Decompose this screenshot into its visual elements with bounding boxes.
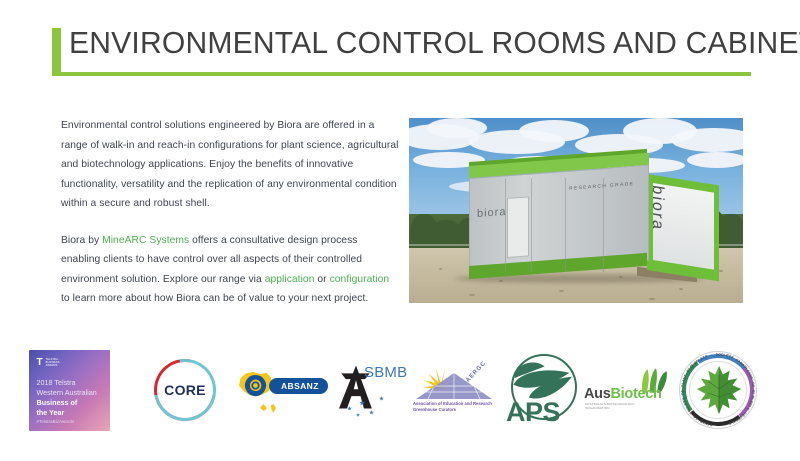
p2-mid-2: or: [314, 274, 329, 285]
telstra-mark-line-3: AWARDS: [46, 364, 60, 367]
p2-tail: to learn more about how Biora can be of …: [61, 293, 368, 304]
ground-speck: [649, 298, 655, 300]
link-configuration[interactable]: configuration: [330, 274, 390, 285]
partner-logo-strip: T TELSTRA BUSINESS AWARDS 2018 Telstra W…: [0, 340, 800, 450]
ground-speck: [469, 294, 475, 296]
container-rib: [565, 178, 566, 272]
biohazard-icon: [243, 373, 268, 398]
aps-wordmark: APS: [506, 397, 560, 428]
container-door: [507, 196, 529, 258]
cloud-shape: [519, 120, 589, 142]
telstra-line-4: the Year: [37, 408, 103, 418]
tree-shape: [717, 214, 743, 252]
header-accent-bar: [52, 28, 61, 74]
ground-speck: [679, 288, 683, 290]
page-header: ENVIRONMENTAL CONTROL ROOMS AND CABINETS: [52, 28, 752, 78]
paragraph-2: Biora by MineARC Systems offers a consul…: [61, 231, 399, 309]
logo-telstra-business-award[interactable]: T TELSTRA BUSINESS AWARDS 2018 Telstra W…: [14, 340, 124, 440]
core-wordmark: CORE: [154, 359, 216, 421]
logo-aergc[interactable]: AERGC Association of Education and Resea…: [408, 340, 500, 440]
ground-speck: [559, 290, 564, 292]
logo-asbmb[interactable]: SBMB: [328, 340, 418, 440]
core-logo-mark: CORE: [154, 359, 216, 421]
container-rib: [603, 178, 604, 272]
telstra-mark-lines: TELSTRA BUSINESS AWARDS: [46, 358, 60, 368]
asbmb-logo-mark: SBMB: [337, 360, 409, 420]
logo-canadian-society-of-plant-biologists[interactable]: CANADIAN SOCIETY OF PLANT BIOLOGISTS • S…: [668, 340, 768, 440]
new-zealand-icon: [270, 404, 276, 413]
page-title: ENVIRONMENTAL CONTROL ROOMS AND CABINETS: [69, 25, 800, 61]
ausbiotech-logo-mark: AusBiotech AUSTRALIA'S BIOTECHNOLOGY ORG…: [584, 368, 672, 412]
telstra-line-2: Western Australian: [37, 388, 103, 398]
content-area: Environmental control solutions engineer…: [0, 108, 800, 318]
cspb-logo-mark: CANADIAN SOCIETY OF PLANT BIOLOGISTS • S…: [679, 351, 757, 429]
biora-brand-vertical: biora: [648, 184, 666, 232]
container-rib: [531, 178, 532, 272]
description-column: Environmental control solutions engineer…: [61, 116, 399, 309]
container-rib: [505, 178, 506, 272]
aergc-caption-line-1: Association of Education and Research: [413, 401, 495, 407]
southern-cross-star-icon: [369, 410, 374, 415]
telstra-award-tile: T TELSTRA BUSINESS AWARDS 2018 Telstra W…: [29, 350, 110, 431]
aps-logo-mark: APS: [503, 354, 585, 426]
link-application[interactable]: application: [265, 274, 315, 285]
ausbiotech-biotech: Biotech: [611, 386, 662, 402]
telstra-hashtag: #TelstraBizAwards: [37, 419, 75, 424]
southern-cross-star-icon: [356, 413, 360, 417]
ausbiotech-wordmark: AusBiotech: [584, 386, 662, 402]
p2-lead: Biora by: [61, 235, 102, 246]
tasmania-icon: [260, 404, 267, 411]
absanz-wordmark: ABSANZ: [269, 378, 328, 394]
product-photo: RESEARCH GRADE biora biora: [409, 118, 743, 303]
logo-aps[interactable]: APS: [498, 340, 590, 440]
telstra-line-1: 2018 Telstra: [37, 378, 103, 388]
header-underline: [52, 72, 751, 76]
southern-cross-star-icon: [379, 396, 384, 401]
ground-speck: [439, 268, 442, 270]
aergc-caption-line-2: Greenhouse Curators: [413, 407, 495, 413]
telstra-line-3: Business of: [37, 398, 103, 408]
link-minearc-systems[interactable]: MineARC Systems: [102, 235, 189, 246]
telstra-t-glyph: T: [37, 358, 43, 367]
logo-ausbiotech[interactable]: AusBiotech AUSTRALIA'S BIOTECHNOLOGY ORG…: [582, 340, 674, 440]
aergc-logo-mark: AERGC Association of Education and Resea…: [412, 361, 496, 419]
aergc-caption: Association of Education and Research Gr…: [413, 401, 495, 412]
paragraph-1: Environmental control solutions engineer…: [61, 116, 399, 214]
asbmb-wordmark: SBMB: [364, 364, 407, 381]
logo-absanz[interactable]: ABSANZ: [228, 340, 336, 440]
aergc-acronym: AERGC: [465, 360, 488, 384]
absanz-logo-mark: ABSANZ: [234, 364, 330, 416]
biora-container: RESEARCH GRADE biora biora: [469, 172, 719, 280]
cspb-ring-text: CANADIAN SOCIETY OF PLANT BIOLOGISTS • S…: [679, 351, 757, 429]
cloud-shape: [687, 152, 743, 168]
telstra-award-lines: 2018 Telstra Western Australian Business…: [37, 378, 103, 418]
biora-brand-side: biora: [477, 206, 506, 220]
ausbiotech-subtitle: AUSTRALIA'S BIOTECHNOLOGY ORGANISATION: [585, 402, 657, 410]
logo-core[interactable]: CORE: [140, 340, 230, 440]
telstra-logo-mark: T TELSTRA BUSINESS AWARDS: [37, 358, 60, 368]
ausbiotech-aus: Aus: [584, 386, 611, 402]
ground-speck: [719, 270, 723, 272]
